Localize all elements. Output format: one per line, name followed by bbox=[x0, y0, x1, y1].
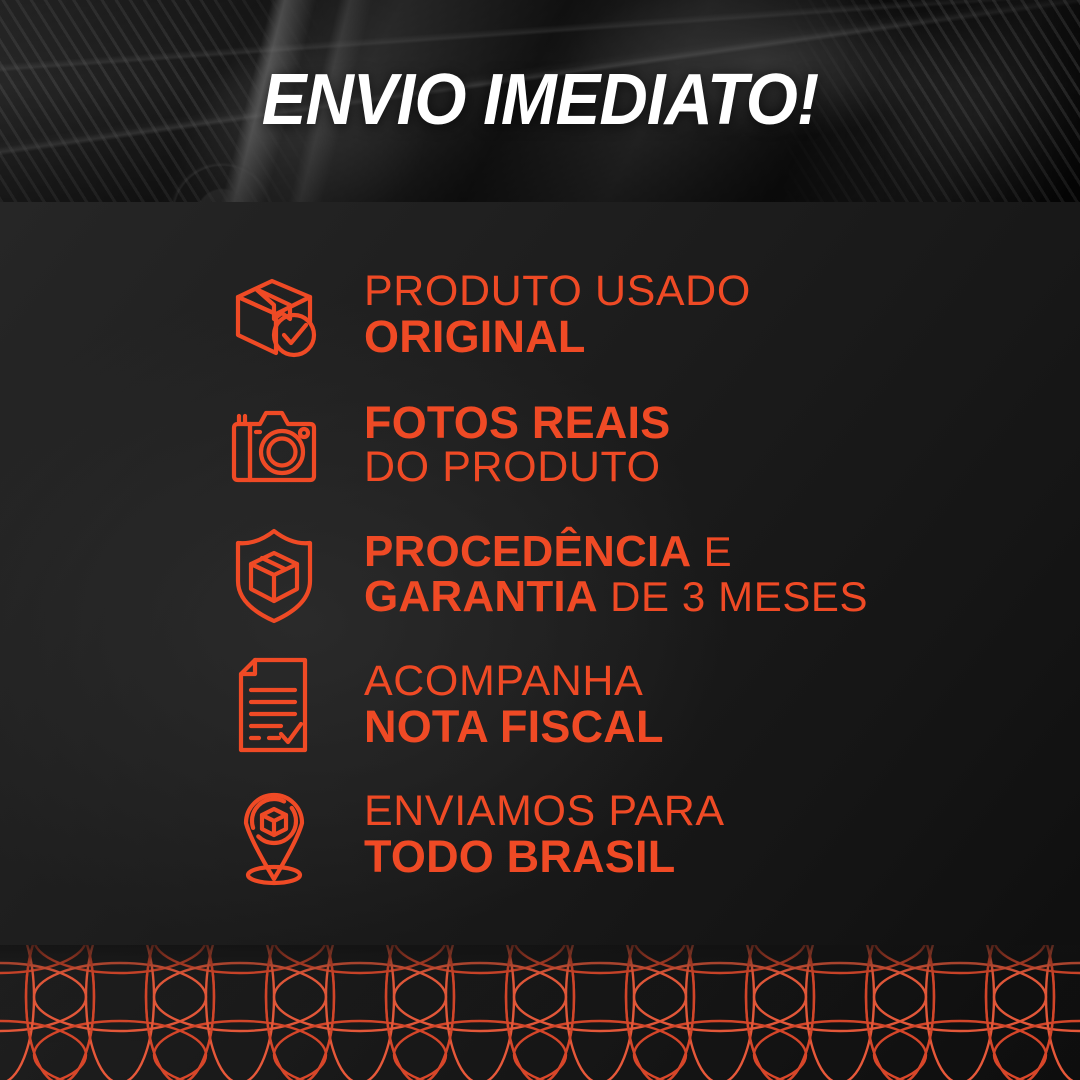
feature-line-1-regular: E bbox=[691, 528, 732, 575]
feature-line-2: ORIGINAL bbox=[364, 314, 751, 360]
feature-text: ENVIAMOS PARA TODO BRASIL bbox=[364, 790, 725, 880]
feature-line-2: GARANTIA DE 3 MESES bbox=[364, 575, 868, 620]
feature-line-1: PRODUTO USADO bbox=[364, 270, 751, 314]
feature-line-2: NOTA FISCAL bbox=[364, 704, 664, 750]
document-check-icon bbox=[222, 653, 326, 757]
features-list: PRODUTO USADO ORIGINAL bbox=[222, 250, 1022, 900]
footer-pattern bbox=[0, 945, 1080, 1080]
shield-box-icon bbox=[222, 523, 326, 627]
feature-text: FOTOS REAIS DO PRODUTO bbox=[364, 400, 670, 490]
feature-line-1: PROCEDÊNCIA E bbox=[364, 530, 868, 575]
feature-row-procedencia-garantia: PROCEDÊNCIA E GARANTIA DE 3 MESES bbox=[222, 510, 1022, 640]
feature-row-produto-usado-original: PRODUTO USADO ORIGINAL bbox=[222, 250, 1022, 380]
feature-line-2: DO PRODUTO bbox=[364, 446, 670, 490]
feature-line-2-regular: DE 3 MESES bbox=[598, 573, 868, 620]
location-pin-box-icon bbox=[222, 783, 326, 887]
feature-text: ACOMPANHA NOTA FISCAL bbox=[364, 660, 664, 750]
feature-line-1: ENVIAMOS PARA bbox=[364, 790, 725, 834]
feature-text: PRODUTO USADO ORIGINAL bbox=[364, 270, 751, 360]
feature-text: PROCEDÊNCIA E GARANTIA DE 3 MESES bbox=[364, 530, 868, 620]
promo-poster: ENVIO IMEDIATO! bbox=[0, 0, 1080, 1080]
feature-line-2: TODO BRASIL bbox=[364, 834, 725, 880]
feature-line-1: ACOMPANHA bbox=[364, 660, 664, 704]
box-check-icon bbox=[222, 263, 326, 367]
feature-row-todo-brasil: ENVIAMOS PARA TODO BRASIL bbox=[222, 770, 1022, 900]
feature-line-1-bold: PROCEDÊNCIA bbox=[364, 527, 691, 576]
page-title: ENVIO IMEDIATO! bbox=[38, 64, 1042, 136]
feature-row-nota-fiscal: ACOMPANHA NOTA FISCAL bbox=[222, 640, 1022, 770]
feature-line-1: FOTOS REAIS bbox=[364, 400, 670, 446]
feature-row-fotos-reais: FOTOS REAIS DO PRODUTO bbox=[222, 380, 1022, 510]
feature-line-2-bold: GARANTIA bbox=[364, 572, 598, 621]
camera-icon bbox=[222, 393, 326, 497]
header-banner: ENVIO IMEDIATO! bbox=[0, 0, 1080, 202]
